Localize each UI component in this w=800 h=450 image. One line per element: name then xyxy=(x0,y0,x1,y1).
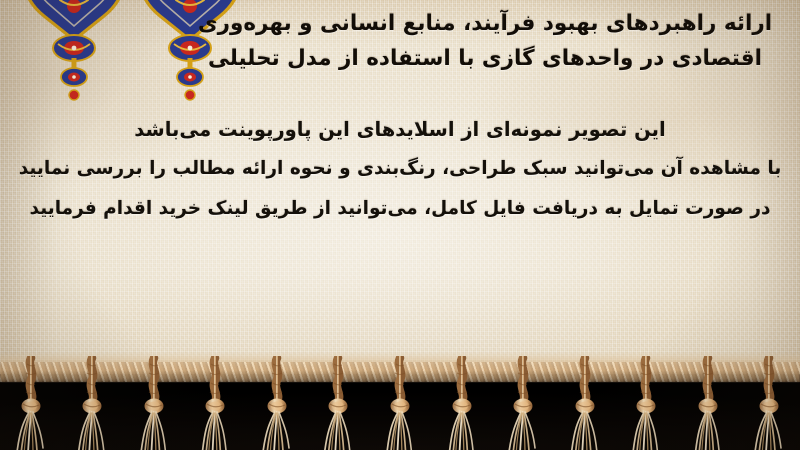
fringe-tassel xyxy=(380,356,420,450)
slide-title-line-1: ارائه راهبردهای بهبود فرآیند، منابع انسا… xyxy=(185,6,785,41)
fringe-tassel xyxy=(195,356,235,450)
fringe-tassel xyxy=(72,356,112,450)
fringe-tassel xyxy=(318,356,358,450)
fringe-tassel xyxy=(442,356,482,450)
fringe-tassel xyxy=(626,356,666,450)
slide-body-line-3: در صورت تمایل به دریافت فایل کامل، می‌تو… xyxy=(0,189,800,229)
fringe-tassel xyxy=(749,356,789,450)
fringe-tassel xyxy=(565,356,605,450)
fringe-tassel xyxy=(257,356,297,450)
slide-body: این تصویر نمونه‌ای از اسلایدهای این پاور… xyxy=(0,112,800,229)
slide-title-line-2: اقتصادی در واحدهای گازی با استفاده از مد… xyxy=(185,41,785,76)
carpet-knotted-fringe xyxy=(0,356,800,450)
slide-body-line-1: این تصویر نمونه‌ای از اسلایدهای این پاور… xyxy=(0,112,800,148)
fringe-tassel xyxy=(134,356,174,450)
fringe-tassel xyxy=(11,356,51,450)
slide-canvas: ارائه راهبردهای بهبود فرآیند، منابع انسا… xyxy=(0,0,800,450)
slide-title: ارائه راهبردهای بهبود فرآیند، منابع انسا… xyxy=(185,6,785,76)
fringe-tassel xyxy=(688,356,728,450)
fringe-tassel xyxy=(503,356,543,450)
persian-medallion-pendant-left-icon xyxy=(14,0,134,118)
slide-body-line-2: با مشاهده آن می‌توانید سبک طراحی، رنگ‌بن… xyxy=(0,148,800,189)
